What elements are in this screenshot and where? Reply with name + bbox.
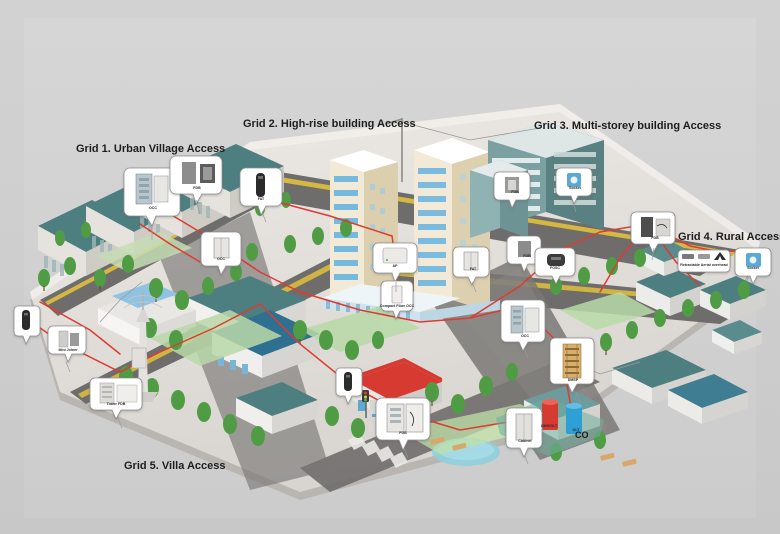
callout-aerial-rural [678, 250, 730, 272]
label-occ-village: OCC [142, 206, 164, 210]
label-socket-rural: Socket [742, 266, 764, 270]
label-fat-building: FAT [462, 267, 484, 271]
grid-label-3: Grid 3. Multi-storey building Access [534, 120, 721, 132]
label-fdb-mid2: FDB [516, 254, 538, 258]
infographic-canvas: SUNSEA FTTH Deployment Solution FTTH Dep… [0, 0, 780, 534]
label-socket-multi: Socket [564, 186, 586, 190]
grid-label-1: Grid 1. Urban Village Access [76, 143, 225, 155]
label-fdb-mid: FDB [504, 190, 526, 194]
label-fdb-village: FDB [186, 186, 208, 190]
label-cabinet-bottom: Cabinet [513, 439, 537, 443]
label-fdb-rural: FDB [644, 236, 666, 240]
label-tank-right: OLT [566, 428, 586, 432]
grid-label-4: Grid 4. Rural Access [678, 231, 780, 243]
label-compact-occ: Compact Fiber OCC [376, 304, 418, 308]
label-fdb-bottom: FDB [392, 431, 414, 435]
label-occ-street: OCC [210, 257, 232, 261]
grid-label-5: Grid 5. Villa Access [124, 460, 226, 472]
label-tower-fdb: Tower FDB [100, 402, 132, 406]
label-mini-joiner: Mini Joiner [54, 348, 82, 352]
label-fat-village: FAT [250, 197, 272, 201]
label-odf-dmsp: DMSP [561, 378, 585, 382]
label-fosc-street: FOSC [544, 266, 566, 270]
label-aerial-rural: Retractable Aerial overhead [679, 263, 729, 267]
label-ap-highrise: AP [384, 264, 406, 268]
label-tank-left: OMG/OLT [536, 424, 562, 428]
label-occ-right: OCC [514, 334, 536, 338]
grid-label-2: Grid 2. High-rise building Access [243, 118, 416, 130]
